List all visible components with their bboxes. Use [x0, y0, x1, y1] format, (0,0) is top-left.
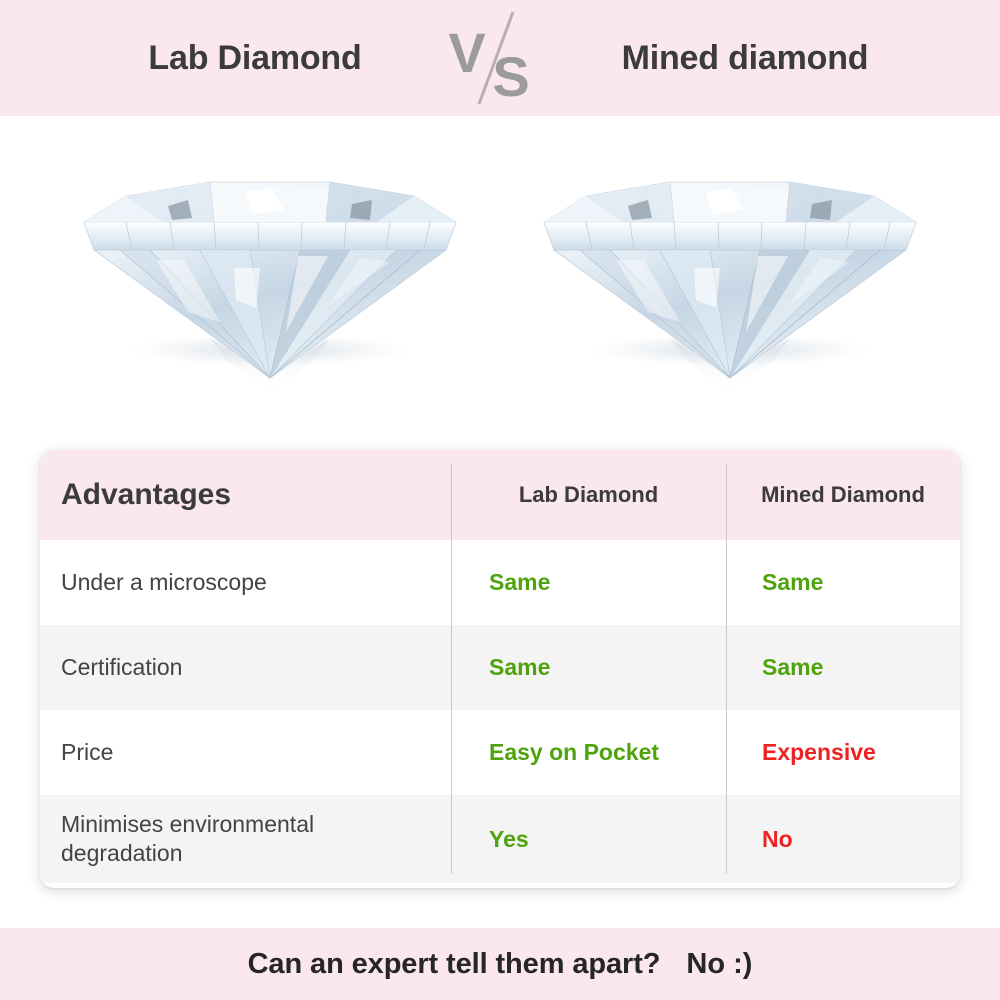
- header-cell-mined-diamond: Mined Diamond: [726, 482, 960, 508]
- row-lab-value: Same: [451, 569, 726, 596]
- row-feature-label: Certification: [40, 653, 451, 682]
- comparison-table-card: Advantages Lab Diamond Mined Diamond Und…: [40, 450, 960, 888]
- mined-diamond-image: [520, 126, 940, 426]
- diamond-gallery: [0, 116, 1000, 436]
- table-row: Under a microscope Same Same: [40, 540, 960, 625]
- vs-icon: V S: [445, 6, 555, 110]
- comparison-table: Advantages Lab Diamond Mined Diamond Und…: [40, 450, 960, 888]
- header-band: Lab Diamond V S Mined diamond: [0, 0, 1000, 116]
- row-feature-label: Price: [40, 738, 451, 767]
- row-mined-value: Same: [726, 654, 960, 681]
- row-mined-value: Expensive: [726, 739, 960, 766]
- header-title-mined: Mined diamond: [555, 39, 935, 78]
- row-mined-value: Same: [726, 569, 960, 596]
- header-cell-lab-diamond: Lab Diamond: [451, 482, 726, 508]
- row-lab-value: Yes: [451, 826, 726, 853]
- table-header-row: Advantages Lab Diamond Mined Diamond: [40, 450, 960, 540]
- row-feature-label: Minimises environmental degradation: [40, 810, 451, 869]
- footer-question: Can an expert tell them apart?: [248, 948, 661, 981]
- row-feature-label: Under a microscope: [40, 568, 451, 597]
- row-lab-value: Easy on Pocket: [451, 739, 726, 766]
- table-row: Price Easy on Pocket Expensive: [40, 710, 960, 795]
- table-row: Minimises environmental degradation Yes …: [40, 795, 960, 883]
- footer-band: Can an expert tell them apart? No :): [0, 928, 1000, 1000]
- header-title-lab: Lab Diamond: [65, 39, 445, 78]
- lab-diamond-image: [60, 126, 480, 426]
- row-mined-value: No: [726, 826, 960, 853]
- row-lab-value: Same: [451, 654, 726, 681]
- svg-text:V: V: [448, 21, 485, 84]
- table-row: Certification Same Same: [40, 625, 960, 710]
- comparison-infographic: Lab Diamond V S Mined diamond: [0, 0, 1000, 1000]
- footer-answer: No :): [686, 948, 752, 981]
- header-cell-advantages: Advantages: [40, 476, 451, 514]
